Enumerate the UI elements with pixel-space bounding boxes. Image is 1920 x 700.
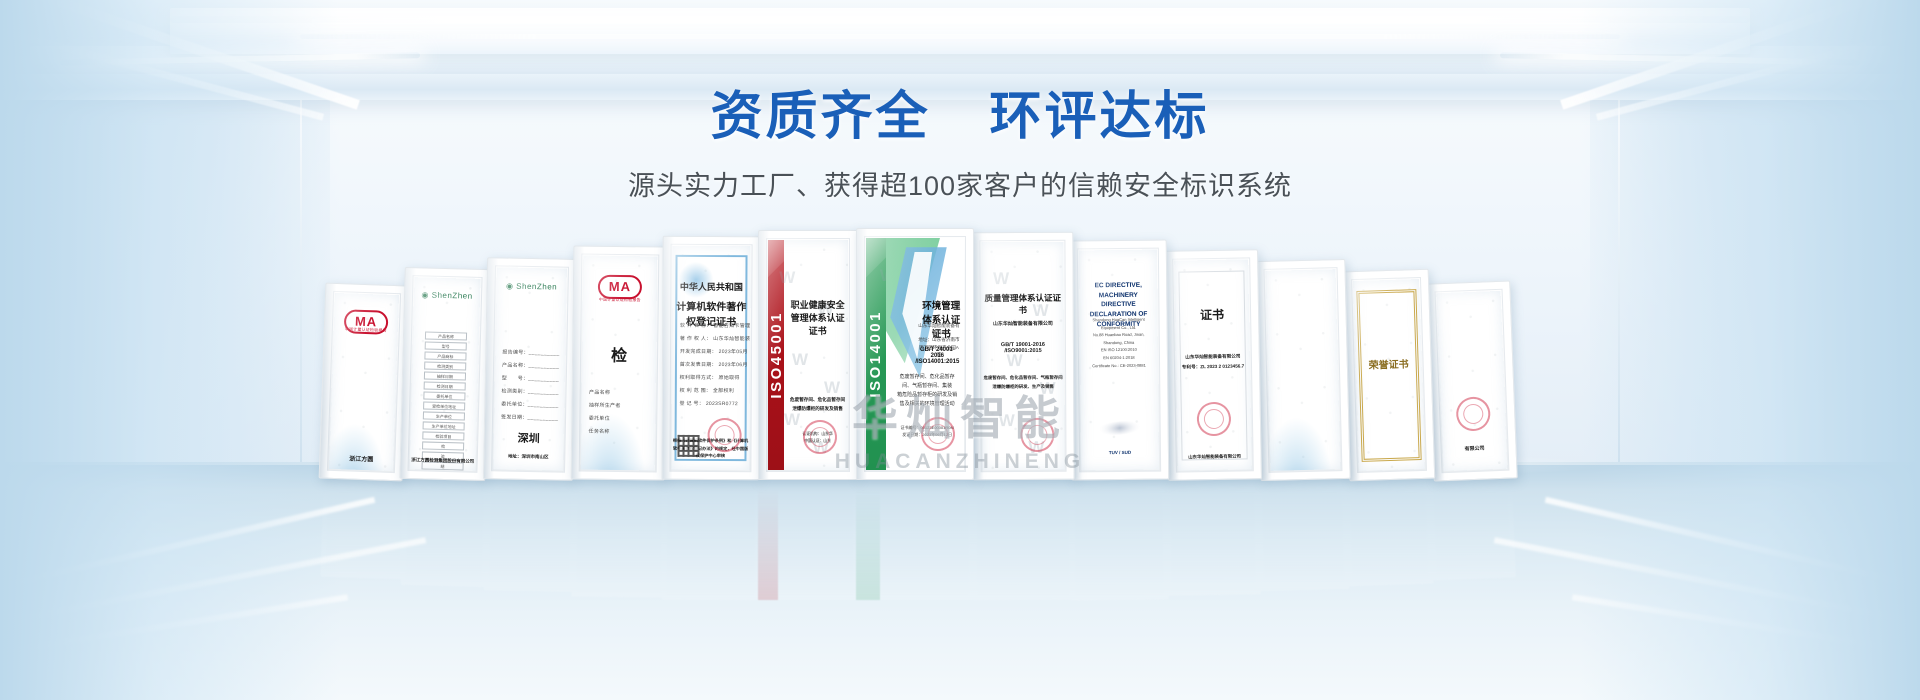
certificate-frame[interactable]: WWWWWW 质量管理体系认证证书 山东华灿智能装备有限公司 GB/T 1900… [971, 232, 1074, 481]
certificate-title: 证书 [1175, 306, 1249, 324]
page-title: 资质齐全 环评达标 [0, 88, 1920, 148]
certificate-sheet: MA 中国计量认证检验报告 浙江方圆 [329, 293, 399, 471]
certificate-frame[interactable]: 中华人民共和国 计算机软件著作权登记证书 软 件 名 称： 智能告知卡管理系统 … [661, 236, 760, 481]
certificate-frame[interactable]: 有限公司 [1426, 280, 1518, 481]
certificate-field: 权利取得方式： 原始取得 [680, 374, 742, 381]
ceiling-light-strip-2 [300, 34, 1620, 39]
certificate-frame[interactable]: 荣誉证书 [1343, 269, 1436, 482]
certificate-reflection-item [320, 479, 407, 580]
certificate-scope: 危废暂存间、危化品暂存间泄爆防爆柜的研发及销售 [787, 396, 848, 413]
sheet-watermark: W [993, 269, 1009, 289]
certificate-frame[interactable]: MA 中国计量认证检验报告 浙江方圆 [319, 283, 410, 482]
inspection-row: 检 [422, 441, 464, 450]
frame-inner-shadow [972, 233, 983, 479]
blue-wave-graphic [1266, 389, 1341, 471]
certificate-title: 职业健康安全管理体系认证证书 [787, 298, 848, 337]
iso-standard-label: ISO45001 [768, 311, 785, 399]
certificate-title: 检 [582, 341, 656, 366]
certificate-title-top: 中华人民共和国 [672, 279, 750, 292]
certificate-sheet: 荣誉证书 [1353, 279, 1425, 471]
certificate-field-list: 软 件 名 称： 智能告知卡管理系统 V1.0著 作 权 人： 山东华灿智能装备… [680, 322, 743, 413]
official-seal [917, 413, 959, 455]
certificate-sheet: 证书 山东华灿智能装备有限公司专利号：ZL 2023 2 0123456.7 山… [1174, 259, 1252, 470]
certificate-standard: GB/T 24001-2016 /ISO14001:2015 [914, 347, 961, 365]
ceiling-light-strip-1 [170, 16, 1750, 23]
certificate-artwork: 环境管理体系认证证书 山东华灿智能装备有限公司地址：山东省济南市历下区环保产业园… [886, 238, 964, 470]
certificate-field-list: 产品名称抽样所生产者委托单位任务名称 [588, 388, 648, 441]
inspection-row: 受检单位地址 [423, 401, 465, 410]
certificate-sheet: ◉ ShenZhen 产品名称型号产品商标检测类别抽样日期检测日期委托单位受检单… [409, 277, 480, 471]
sheet-watermark: W [792, 350, 808, 370]
inspection-row: 检验项目 [422, 431, 464, 440]
certificate-field: 首次发表日期： 2023年06月 [680, 361, 742, 368]
certificate-sheet: ISO14001 WWWWWW 环境管理体系认证证书 山东华灿智能装备有限公司地… [866, 238, 964, 470]
reflection-spine [758, 480, 778, 600]
certificate-sheet: 有限公司 [1437, 291, 1508, 471]
inspection-row: 型号 [425, 341, 467, 350]
certificate-reflection-item [1069, 479, 1168, 600]
inspection-row: 产品名称 [425, 331, 467, 340]
certificate-frame[interactable]: ISO14001 WWWWWW 环境管理体系认证证书 山东华灿智能装备有限公司地… [856, 228, 974, 480]
certificate-reflection-item [758, 480, 858, 600]
inspection-row-list: 产品名称型号产品商标检测类别抽样日期检测日期委托单位受检单位地址生产单位生产单位… [420, 331, 467, 471]
certificate-reflection-item [972, 480, 1075, 601]
certificate-field: 软 件 名 称： 智能告知卡管理系统 V1.0 [680, 322, 742, 329]
certificate-reflection-item [1428, 478, 1516, 580]
inspection-row: 检测类别 [424, 361, 466, 370]
certificate-frame[interactable]: ◉ ShenZhen 产品名称型号产品商标检测类别抽样日期检测日期委托单位受检单… [399, 267, 491, 481]
certificate-frame[interactable]: ISO45001 WWWWWW职业健康安全管理体系认证证书 危废暂存间、危化品暂… [758, 230, 858, 480]
certificate-frame[interactable]: MA 中国计量认证检验报告 检产品名称抽样所生产者委托单位任务名称 [571, 245, 668, 480]
certificate-field: 报告编号：__________ [502, 348, 558, 356]
certificate-sheet: 中华人民共和国 计算机软件著作权登记证书 软 件 名 称： 智能告知卡管理系统 … [671, 246, 750, 470]
certificate-reflection-item [662, 480, 761, 601]
certificate-field: 产品名称：__________ [502, 361, 558, 369]
certificate-body: Shandong HuaCan IntelligentEquipment Co.… [1087, 316, 1150, 370]
certificate-company: 山东华灿智能装备有限公司 [982, 319, 1064, 326]
inspection-row: 抽样日期 [424, 371, 466, 380]
certificate-sheet: ISO45001 WWWWWW职业健康安全管理体系认证证书 危废暂存间、危化品暂… [768, 240, 848, 470]
certificate-field: 权 利 范 围： 全部权利 [680, 387, 742, 394]
certificate-title: 荣誉证书 [1355, 355, 1421, 372]
certificate-reflection-item [401, 479, 490, 587]
reflection-spine [856, 480, 880, 600]
iso-standard-label: ISO14001 [867, 310, 884, 398]
qr-code [678, 434, 700, 456]
frame-inner-shadow [759, 231, 769, 479]
certificate-field: 开发完成日期： 2023年05月 [680, 348, 742, 355]
certificate-field: 型 号：__________ [502, 374, 558, 382]
frame-inner-shadow [662, 237, 673, 479]
certificate-sheet [1266, 269, 1341, 471]
certificate-scope: 危废暂存间、危化品暂存间、气瓶暂存间、集装箱危险品暂存柜的研发及销售及相关的环境… [895, 373, 959, 409]
inspection-row: 委托单位 [423, 391, 465, 400]
certificate-footer: 山东华灿智能装备有限公司 [1178, 453, 1252, 460]
banner-heading-block: 资质齐全 环评达标 源头实力工厂、获得超100家客户的信赖安全标识系统 [0, 88, 1920, 203]
issuer-logo: ◉ ShenZhen [421, 291, 472, 301]
sheet-watermark: W [779, 268, 795, 288]
certificate-title: 质量管理体系认证证书 [982, 292, 1064, 316]
inspection-row: 生产单位 [423, 411, 465, 420]
certificate-field: 著 作 权 人： 山东华灿智能装备有限公司 [680, 335, 742, 342]
certificate-field: 任务名称 [589, 427, 648, 435]
certificate-sheet: MA 中国计量认证检验报告 检产品名称抽样所生产者委托单位任务名称 [581, 256, 658, 471]
gold-border [1357, 289, 1422, 462]
certificate-field: 产品名称 [589, 388, 648, 396]
sheet-watermark: W [1007, 351, 1023, 371]
certificate-standard: GB/T 19001-2016 /ISO9001:2015 [982, 342, 1064, 354]
certificate-field: 委托单位 [589, 414, 648, 422]
certificate-field: 签发日期：__________ [501, 413, 557, 421]
qualification-banner: 资质齐全 环评达标 源头实力工厂、获得超100家客户的信赖安全标识系统 MA 中… [0, 0, 1920, 700]
frame-inner-shadow [857, 229, 867, 479]
issuer-logo: ◉ ShenZhen [506, 282, 557, 292]
certificate-field: 委托单位：__________ [501, 400, 557, 408]
certificate-field: 检测类别：__________ [502, 387, 558, 395]
inspection-row: 生产单位地址 [422, 421, 464, 430]
certificate-footer: 深圳 [494, 429, 564, 446]
certificate-reflection-item [1257, 479, 1350, 591]
certificate-reflection-item [856, 480, 974, 600]
certificate-reflection-item [1344, 479, 1433, 587]
certificate-reflection-item [571, 479, 666, 597]
certificate-frame[interactable]: EC DIRECTIVE,MACHINERY DIRECTIVEDECLARAT… [1069, 239, 1170, 480]
certificate-reflection-item [1165, 479, 1261, 596]
certificate-frame[interactable]: ◉ ShenZhen 报告编号：__________产品名称：_________… [483, 257, 577, 481]
issuer-label: TUV / SUD [1081, 449, 1159, 455]
certificate-sheet: EC DIRECTIVE,MACHINERY DIRECTIVEDECLARAT… [1079, 250, 1159, 471]
certificate-sheet: ◉ ShenZhen 报告编号：__________产品名称：_________… [493, 267, 567, 470]
headline-part-1: 资质齐全 [711, 88, 931, 146]
inspection-row: 产品商标 [424, 351, 466, 360]
ceiling-panel-inner [170, 8, 1750, 54]
certificate-field-list: 报告编号：__________产品名称：__________型 号：______… [501, 348, 558, 427]
certificate-frame[interactable] [1255, 259, 1350, 481]
mac-badge-subtext: 中国计量认证检验报告 [599, 296, 641, 303]
page-subtitle: 源头实力工厂、获得超100家客户的信赖安全标识系统 [0, 164, 1920, 203]
sheet-watermark: W [824, 378, 840, 398]
certificate-field: 抽样所生产者 [589, 401, 648, 409]
sheet-watermark: W [999, 411, 1015, 431]
certificate-reflection [310, 480, 1610, 620]
certificate-scope: 危废暂存间、危化品暂存间、气瓶暂存间泄爆防爆柜的研发、生产及销售 [982, 374, 1064, 391]
certificate-reflection-item [484, 479, 576, 592]
certificate-field: 登 记 号： 2023SR0772 [680, 400, 742, 407]
inspection-row: 检测日期 [423, 381, 465, 390]
headline-part-2: 环评达标 [989, 88, 1209, 146]
certificate-frame[interactable]: 证书 山东华灿智能装备有限公司专利号：ZL 2023 2 0123456.7 山… [1164, 249, 1262, 481]
certificate-body: 山东华灿智能装备有限公司专利号：ZL 2023 2 0123456.7 [1176, 352, 1250, 372]
certificate-sheet: WWWWWW 质量管理体系认证证书 山东华灿智能装备有限公司 GB/T 1900… [981, 242, 1064, 470]
certificate-rack: MA 中国计量认证检验报告 浙江方圆 ◉ ShenZhen 产品名称型号产品商标… [310, 228, 1610, 480]
